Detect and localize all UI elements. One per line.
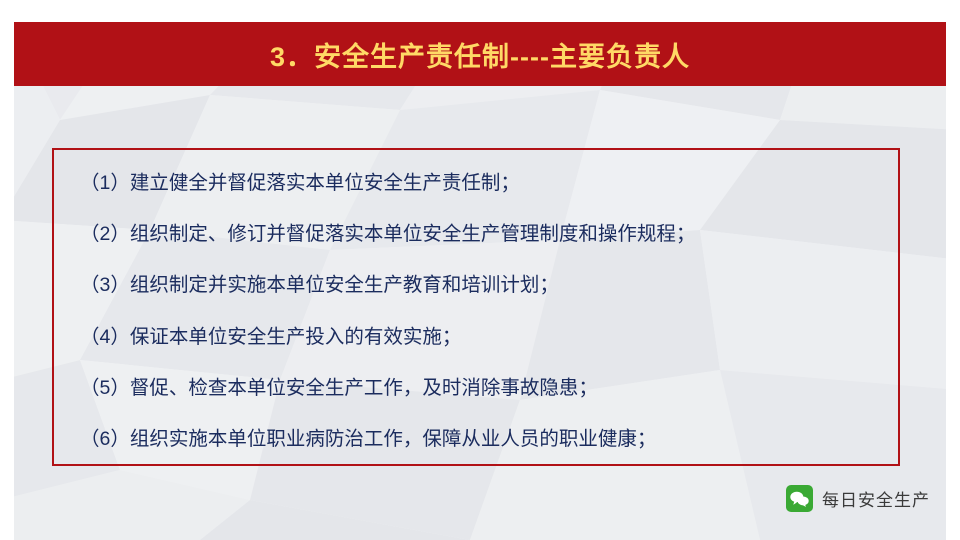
content-box: （1）建立健全并督促落实本单位安全生产责任制； （2）组织制定、修订并督促落实本… [52, 148, 900, 466]
list-item: （6）组织实施本单位职业病防治工作，保障从业人员的职业健康； [80, 424, 872, 454]
wechat-icon [786, 485, 813, 512]
left-white-margin [0, 0, 14, 540]
right-white-margin [946, 0, 960, 540]
watermark: 每日安全生产 [786, 485, 930, 512]
page-title: 3．安全生产责任制----主要负责人 [270, 35, 690, 74]
watermark-label: 每日安全生产 [822, 486, 930, 511]
list-item: （5）督促、检查本单位安全生产工作，及时消除事故隐患； [80, 373, 872, 403]
list-item: （4）保证本单位安全生产投入的有效实施； [80, 322, 872, 352]
list-item: （1）建立健全并督促落实本单位安全生产责任制； [80, 168, 872, 198]
top-white-margin [0, 0, 960, 22]
wechat-glyph [790, 491, 809, 507]
list-item: （2）组织制定、修订并督促落实本单位安全生产管理制度和操作规程； [80, 219, 872, 249]
slide: 3．安全生产责任制----主要负责人 （1）建立健全并督促落实本单位安全生产责任… [0, 0, 960, 540]
list-item: （3）组织制定并实施本单位安全生产教育和培训计划； [80, 270, 872, 300]
slide-title-bar: 3．安全生产责任制----主要负责人 [14, 22, 946, 86]
